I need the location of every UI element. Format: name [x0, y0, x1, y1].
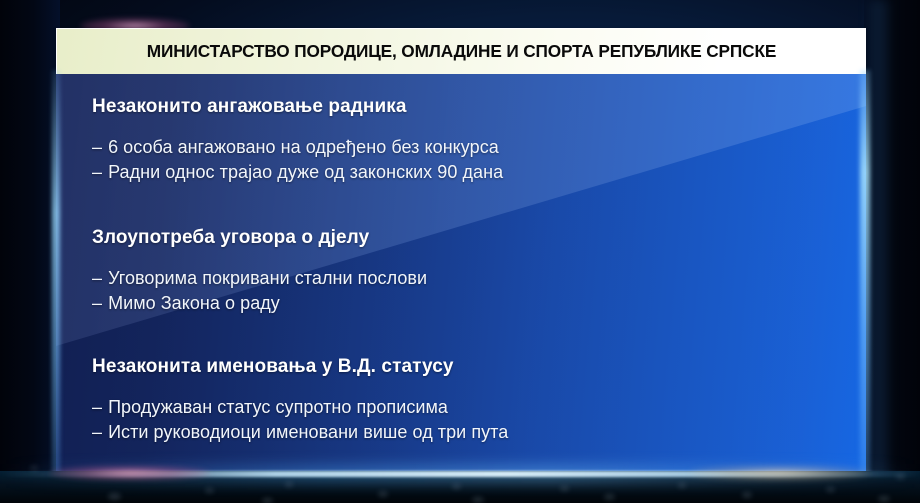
section-heading: Незаконито ангажовање радника: [92, 96, 856, 118]
bokeh-particle: [205, 488, 214, 493]
list-item: –6 особа ангажовано на одређено без конк…: [92, 135, 856, 160]
broadcast-slide-screen: МИНИСТАРСТВО ПОРОДИЦЕ, ОМЛАДИНЕ И СПОРТА…: [0, 0, 920, 503]
list-item: –Исти руководиоци именовани више од три …: [92, 420, 856, 445]
bokeh-particle: [896, 474, 905, 479]
bokeh-particle: [30, 466, 38, 470]
list-item-text: Радни однос трајао дуже од законских 90 …: [108, 162, 503, 182]
panel-edge-glow-left: [52, 70, 60, 478]
list-item: –Продужаван статус супротно прописима: [92, 395, 856, 420]
bullet-dash-icon: –: [92, 266, 102, 291]
bullet-dash-icon: –: [92, 395, 102, 420]
bullet-dash-icon: –: [92, 160, 102, 185]
bokeh-particle: [560, 486, 569, 491]
bokeh-particle: [472, 497, 484, 503]
list-item: –Мимо Закона о раду: [92, 291, 856, 316]
slide-title-bar: МИНИСТАРСТВО ПОРОДИЦЕ, ОМЛАДИНЕ И СПОРТА…: [56, 28, 866, 74]
bullet-dash-icon: –: [92, 420, 102, 445]
bokeh-particle: [452, 484, 461, 489]
slide-content-panel: Незаконито ангажовање радника –6 особа а…: [56, 74, 866, 474]
bullet-dash-icon: –: [92, 291, 102, 316]
lens-flare-pink: [50, 466, 210, 480]
page-title: МИНИСТАРСТВО ПОРОДИЦЕ, ОМЛАДИНЕ И СПОРТА…: [147, 41, 776, 62]
list-item-text: Мимо Закона о раду: [108, 293, 280, 313]
section-illegal-hiring: Незаконито ангажовање радника –6 особа а…: [92, 96, 856, 185]
bullet-dash-icon: –: [92, 135, 102, 160]
section-contract-abuse: Злоупотреба уговора о дјелу –Уговорима п…: [92, 227, 856, 316]
bokeh-particle: [604, 494, 615, 500]
panel-edge-glow-right: [860, 70, 870, 478]
bokeh-particle: [678, 483, 686, 488]
bokeh-particle: [742, 492, 752, 498]
list-item: –Радни однос трајао дуже од законских 90…: [92, 160, 856, 185]
section-heading: Злоупотреба уговора о дјелу: [92, 227, 856, 249]
section-heading: Незаконита именовања у В.Д. статусу: [92, 356, 856, 378]
bokeh-particle: [262, 498, 273, 503]
list-item: –Уговорима покривани стални послови: [92, 266, 856, 291]
section-bullet-list: –Уговорима покривани стални послови –Мим…: [92, 266, 856, 316]
section-illegal-appointments: Незаконита именовања у В.Д. статусу –Про…: [92, 356, 856, 445]
bokeh-particle: [826, 487, 835, 492]
bokeh-particle: [285, 482, 293, 487]
section-bullet-list: –6 особа ангажовано на одређено без конк…: [92, 135, 856, 185]
lens-flare-warm: [690, 466, 870, 480]
section-bullet-list: –Продужаван статус супротно прописима –И…: [92, 395, 856, 445]
background-left-gutter: [0, 0, 60, 503]
list-item-text: Исти руководиоци именовани више од три п…: [108, 422, 508, 442]
bokeh-particle: [378, 491, 388, 497]
list-item-text: Продужаван статус супротно прописима: [108, 397, 448, 417]
list-item-text: Уговорима покривани стални послови: [108, 268, 427, 288]
bokeh-particle: [108, 493, 121, 500]
list-item-text: 6 особа ангажовано на одређено без конку…: [108, 137, 499, 157]
bokeh-particle: [878, 496, 890, 502]
